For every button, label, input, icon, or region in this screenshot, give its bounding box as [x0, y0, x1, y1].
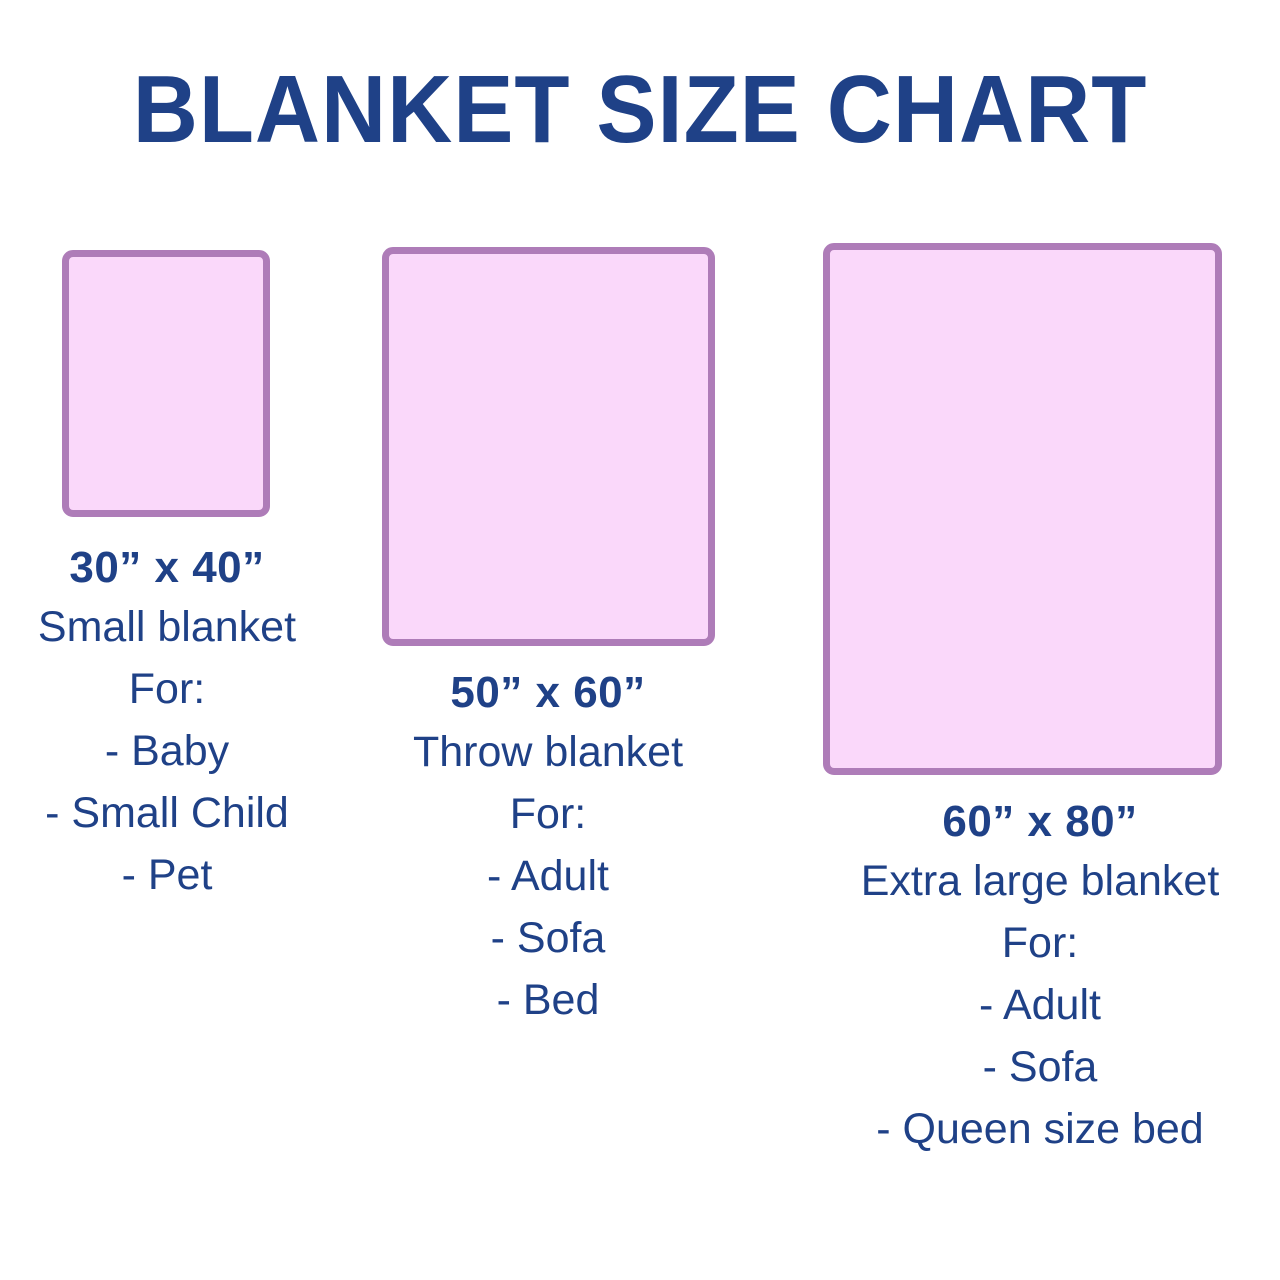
use-item-throw-3: - Bed — [328, 969, 768, 1031]
use-item-throw-2: - Sofa — [328, 907, 768, 969]
size-caption-extra-large: 60” x 80” Extra large blanket For: - Adu… — [790, 794, 1280, 1160]
page-title: BLANKET SIZE CHART — [38, 62, 1241, 158]
dimension-label-throw: 50” x 60” — [328, 665, 768, 721]
blanket-name-small: Small blanket — [0, 596, 387, 658]
dimension-label-small: 30” x 40” — [0, 540, 387, 596]
for-label-throw: For: — [328, 783, 768, 845]
blanket-swatch-throw — [382, 247, 715, 646]
use-item-throw-1: - Adult — [328, 845, 768, 907]
for-label-extra-large: For: — [790, 912, 1280, 974]
size-caption-throw: 50” x 60” Throw blanket For: - Adult - S… — [328, 665, 768, 1031]
use-item-extra-large-2: - Sofa — [790, 1036, 1280, 1098]
blanket-name-throw: Throw blanket — [328, 721, 768, 783]
blanket-swatch-small — [62, 250, 270, 517]
use-item-extra-large-3: - Queen size bed — [790, 1098, 1280, 1160]
blanket-size-chart-canvas: BLANKET SIZE CHART 30” x 40” Small blank… — [0, 0, 1280, 1280]
dimension-label-extra-large: 60” x 80” — [790, 794, 1280, 850]
use-item-extra-large-1: - Adult — [790, 974, 1280, 1036]
blanket-swatch-extra-large — [823, 243, 1222, 775]
blanket-name-extra-large: Extra large blanket — [790, 850, 1280, 912]
